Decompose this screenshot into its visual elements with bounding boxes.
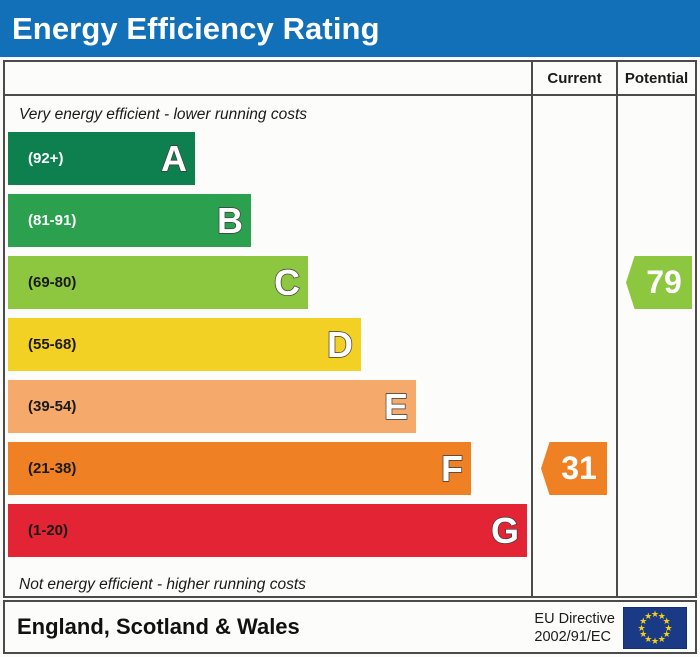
- current-rating-marker: 31: [541, 442, 607, 495]
- eu-flag-icon: ★★★★★★★★★★★★: [623, 607, 687, 649]
- band-letter-f: F: [441, 451, 463, 487]
- band-letter-c: C: [274, 265, 300, 301]
- eu-directive-block: EU Directive 2002/91/EC ★★★★★★★★★★★★: [534, 607, 687, 649]
- band-letter-e: E: [384, 389, 408, 425]
- rating-table: Current Potential Very energy efficient …: [3, 60, 697, 598]
- band-range-label-e: (39-54): [8, 398, 76, 415]
- band-bar-b: (81-91)B: [8, 194, 251, 247]
- band-bar-f: (21-38)F: [8, 442, 471, 495]
- band-range-label-d: (55-68): [8, 336, 76, 353]
- band-bar-c: (69-80)C: [8, 256, 308, 309]
- band-range-label-a: (92+): [8, 150, 63, 167]
- column-header-current: Current: [533, 62, 616, 94]
- band-bar-g: (1-20)G: [8, 504, 527, 557]
- band-bar-a: (92+)A: [8, 132, 195, 185]
- caption-not-efficient: Not energy efficient - higher running co…: [19, 576, 306, 594]
- eu-directive-line1: EU Directive: [534, 610, 615, 628]
- eu-directive-text: EU Directive 2002/91/EC: [534, 610, 615, 646]
- footer-region-label: England, Scotland & Wales: [5, 614, 300, 640]
- column-divider-potential: [616, 62, 618, 596]
- band-letter-g: G: [491, 513, 519, 549]
- footer-bar: England, Scotland & Wales EU Directive 2…: [3, 600, 697, 654]
- page-title: Energy Efficiency Rating: [0, 11, 380, 47]
- column-divider-current: [531, 62, 533, 596]
- column-header-row: Current Potential: [5, 62, 695, 96]
- title-bar: Energy Efficiency Rating: [0, 0, 700, 57]
- band-bar-d: (55-68)D: [8, 318, 361, 371]
- band-range-label-g: (1-20): [8, 522, 68, 539]
- band-letter-b: B: [217, 203, 243, 239]
- band-range-label-b: (81-91): [8, 212, 76, 229]
- band-chart-area: Very energy efficient - lower running co…: [5, 96, 531, 596]
- energy-efficiency-rating-chart: Energy Efficiency Rating Current Potenti…: [0, 0, 700, 657]
- caption-very-efficient: Very energy efficient - lower running co…: [19, 106, 307, 124]
- eu-flag-star: ★: [644, 612, 653, 621]
- eu-directive-line2: 2002/91/EC: [534, 628, 615, 646]
- band-range-label-f: (21-38): [8, 460, 76, 477]
- column-header-potential: Potential: [618, 62, 695, 94]
- band-letter-d: D: [327, 327, 353, 363]
- band-bar-e: (39-54)E: [8, 380, 416, 433]
- band-range-label-c: (69-80): [8, 274, 76, 291]
- potential-rating-marker: 79: [626, 256, 692, 309]
- band-letter-a: A: [161, 141, 187, 177]
